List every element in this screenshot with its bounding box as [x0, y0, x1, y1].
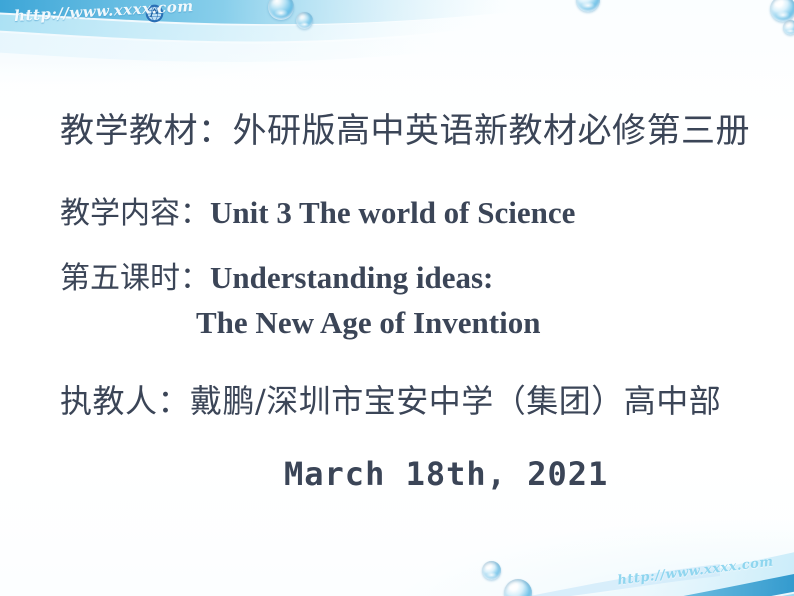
- teaching-content-line: 教学内容：Unit 3 The world of Science: [60, 197, 575, 230]
- date-line: March 18th, 2021: [284, 458, 608, 492]
- teaching-content-label: 教学内容：: [60, 196, 210, 231]
- period-label: 第五课时：: [60, 261, 210, 296]
- teaching-content-value: Unit 3 The world of Science: [210, 195, 575, 230]
- period-subtitle-line: The New Age of Invention: [196, 307, 540, 340]
- teacher-line: 执教人：戴鹏/深圳市宝安中学（集团）高中部: [60, 385, 721, 419]
- period-line: 第五课时：Understanding ideas:: [60, 262, 493, 295]
- textbook-line: 教学教材：外研版高中英语新教材必修第三册: [60, 114, 750, 150]
- slide-text-content: 教学教材：外研版高中英语新教材必修第三册 教学内容：Unit 3 The wor…: [0, 0, 794, 596]
- title-slide: http://www.xxxx.com http://www.xxxx.com …: [0, 0, 794, 596]
- period-value: Understanding ideas:: [210, 260, 493, 295]
